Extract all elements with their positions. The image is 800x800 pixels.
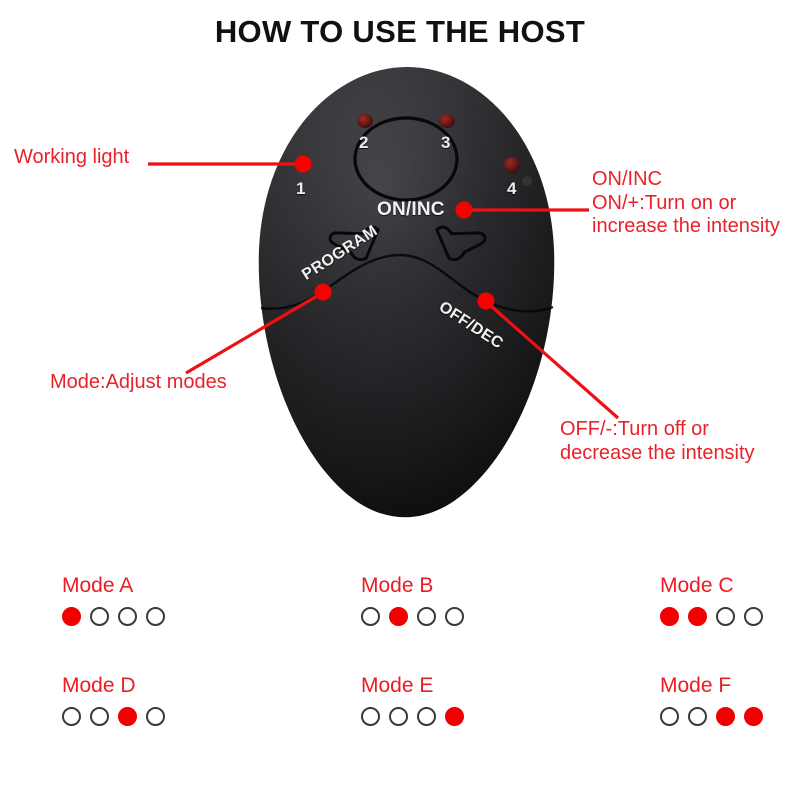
mode-dot-empty [90, 607, 109, 626]
mode-dots-c [660, 607, 800, 626]
mode-dot-empty [118, 607, 137, 626]
mode-label-f: Mode F [660, 674, 800, 698]
device-illustration: ON/INC PROGRAM OFF/DEC 1 2 3 4 [255, 63, 560, 523]
led-number-1: 1 [296, 179, 305, 199]
annotation-working-light: Working light [14, 146, 129, 170]
mode-dot-filled [744, 707, 763, 726]
led-number-2: 2 [359, 133, 368, 153]
mode-dot-empty [389, 707, 408, 726]
annotation-working-light-line-1: Working light [14, 146, 129, 170]
mode-item-d: Mode D [62, 674, 302, 726]
mode-label-e: Mode E [361, 674, 601, 698]
annotation-on-inc-line-3: increase the intensity [592, 215, 780, 239]
mode-label-b: Mode B [361, 574, 601, 598]
device-body-svg [255, 63, 560, 523]
mode-item-a: Mode A [62, 574, 302, 626]
device-label-on-inc: ON/INC [377, 199, 445, 221]
annotation-mode-adjust: Mode:Adjust modes [50, 371, 227, 395]
mode-dot-filled [688, 607, 707, 626]
led-2 [357, 114, 373, 128]
led-1 [295, 157, 311, 171]
mode-label-c: Mode C [660, 574, 800, 598]
mode-dots-f [660, 707, 800, 726]
mode-dot-filled [660, 607, 679, 626]
mode-dot-empty [744, 607, 763, 626]
mode-legend: Mode A Mode B Mode C Mode D Mode E Mode … [0, 560, 800, 760]
annotation-on-inc-line-2: ON/+:Turn on or [592, 192, 780, 216]
mode-label-d: Mode D [62, 674, 302, 698]
power-oval-button-fill [355, 118, 457, 200]
mode-dots-e [361, 707, 601, 726]
annotation-off-dec-line-2: decrease the intensity [560, 442, 755, 466]
mode-dot-empty [660, 707, 679, 726]
annotation-mode-adjust-line-1: Mode:Adjust modes [50, 371, 227, 395]
mode-dot-empty [146, 607, 165, 626]
led-number-4: 4 [507, 179, 516, 199]
mode-item-b: Mode B [361, 574, 601, 626]
annotation-off-dec-line-1: OFF/-:Turn off or [560, 418, 755, 442]
mode-dot-empty [62, 707, 81, 726]
mode-dots-a [62, 607, 302, 626]
annotation-on-inc: ON/INC ON/+:Turn on or increase the inte… [592, 168, 780, 239]
mode-dot-empty [146, 707, 165, 726]
led-4 [504, 157, 520, 173]
mode-dot-empty [361, 607, 380, 626]
mode-dot-filled [445, 707, 464, 726]
mode-dot-empty [716, 607, 735, 626]
mode-dot-empty [417, 607, 436, 626]
mode-dot-empty [445, 607, 464, 626]
mode-dots-d [62, 707, 302, 726]
mode-item-e: Mode E [361, 674, 601, 726]
mode-item-f: Mode F [660, 674, 800, 726]
mode-label-a: Mode A [62, 574, 302, 598]
annotation-on-inc-line-1: ON/INC [592, 168, 780, 192]
mode-dot-empty [361, 707, 380, 726]
body-reflection [522, 176, 532, 186]
mode-dot-filled [118, 707, 137, 726]
mode-item-c: Mode C [660, 574, 800, 626]
mode-dot-filled [389, 607, 408, 626]
led-number-3: 3 [441, 133, 450, 153]
mode-dot-empty [688, 707, 707, 726]
annotation-off-dec: OFF/-:Turn off or decrease the intensity [560, 418, 755, 465]
page-title: HOW TO USE THE HOST [0, 14, 800, 50]
mode-dot-empty [417, 707, 436, 726]
led-3 [439, 114, 455, 128]
mode-dots-b [361, 607, 601, 626]
mode-dot-empty [90, 707, 109, 726]
mode-dot-filled [716, 707, 735, 726]
infographic-canvas: HOW TO USE THE HOST [0, 0, 800, 800]
mode-dot-filled [62, 607, 81, 626]
